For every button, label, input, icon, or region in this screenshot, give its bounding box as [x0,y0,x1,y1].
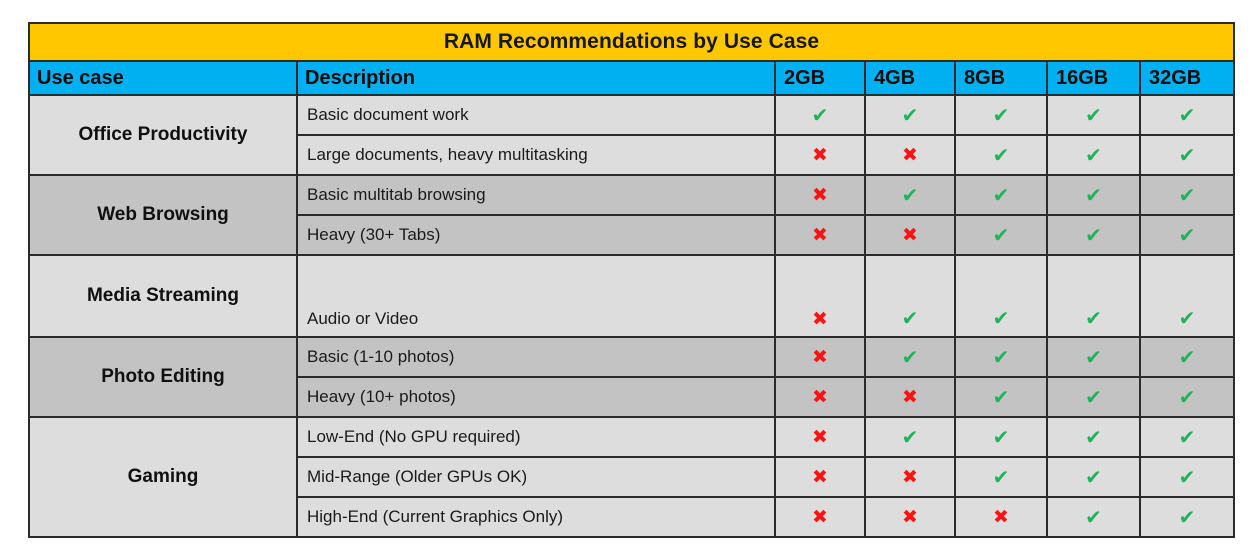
check-icon: ✔ [902,345,919,369]
cross-icon: ✖ [812,386,828,408]
cross-icon: ✖ [812,466,828,488]
check-icon: ✔ [1179,143,1196,167]
check-icon: ✔ [993,385,1010,409]
cross-icon: ✖ [812,506,828,528]
support-cell-32gb: ✔ [1140,417,1234,457]
description-cell: Basic multitab browsing [297,175,775,215]
support-cell-16gb: ✔ [1047,95,1140,135]
support-cell-16gb: ✔ [1047,497,1140,537]
table-row: Office ProductivityBasic document work✔✔… [29,95,1234,135]
table-row: GamingLow-End (No GPU required)✖✔✔✔✔ [29,417,1234,457]
description-cell: Mid-Range (Older GPUs OK) [297,457,775,497]
support-cell-2gb: ✖ [775,497,865,537]
column-header-description: Description [297,61,775,95]
document-title: RAM Recommendations by Use Case [29,23,1234,61]
check-icon: ✔ [1179,465,1196,489]
use-case-label: Office Productivity [29,95,297,175]
check-icon: ✔ [1179,425,1196,449]
support-cell-2gb: ✖ [775,457,865,497]
check-icon: ✔ [1085,465,1102,489]
check-icon: ✔ [902,183,919,207]
support-cell-4gb: ✖ [865,135,955,175]
check-icon: ✔ [902,103,919,127]
check-icon: ✔ [902,425,919,449]
table-row: Web BrowsingBasic multitab browsing✖✔✔✔✔ [29,175,1234,215]
check-icon: ✔ [1179,505,1196,529]
check-icon: ✔ [1085,306,1102,330]
support-cell-16gb: ✔ [1047,337,1140,377]
support-cell-32gb: ✔ [1140,95,1234,135]
check-icon: ✔ [812,103,829,127]
check-icon: ✔ [1179,103,1196,127]
column-header-size-16gb: 16GB [1047,61,1140,95]
support-cell-8gb: ✔ [955,457,1047,497]
description-cell: Basic document work [297,95,775,135]
support-cell-32gb: ✔ [1140,497,1234,537]
check-icon: ✔ [1085,385,1102,409]
support-cell-16gb: ✔ [1047,135,1140,175]
support-cell-4gb: ✔ [865,337,955,377]
check-icon: ✔ [1085,143,1102,167]
support-cell-8gb: ✔ [955,215,1047,255]
check-icon: ✔ [1085,505,1102,529]
check-icon: ✔ [1085,425,1102,449]
cross-icon: ✖ [812,184,828,206]
column-header-size-2gb: 2GB [775,61,865,95]
use-case-label: Media Streaming [29,255,297,337]
check-icon: ✔ [993,143,1010,167]
support-cell-8gb: ✔ [955,337,1047,377]
check-icon: ✔ [993,425,1010,449]
check-icon: ✔ [1085,345,1102,369]
check-icon: ✔ [902,306,919,330]
check-icon: ✔ [993,465,1010,489]
cross-icon: ✖ [902,224,918,246]
support-cell-32gb: ✔ [1140,255,1234,337]
support-cell-2gb: ✖ [775,377,865,417]
cross-icon: ✖ [812,308,828,330]
cross-icon: ✖ [812,224,828,246]
support-cell-4gb: ✖ [865,457,955,497]
support-cell-8gb: ✔ [955,95,1047,135]
cross-icon: ✖ [902,506,918,528]
column-header-use-case: Use case [29,61,297,95]
cross-icon: ✖ [902,466,918,488]
support-cell-2gb: ✖ [775,337,865,377]
description-cell: Large documents, heavy multitasking [297,135,775,175]
support-cell-16gb: ✔ [1047,417,1140,457]
cross-icon: ✖ [812,426,828,448]
use-case-label: Photo Editing [29,337,297,417]
support-cell-8gb: ✔ [955,175,1047,215]
support-cell-4gb: ✔ [865,175,955,215]
support-cell-32gb: ✔ [1140,135,1234,175]
support-cell-16gb: ✔ [1047,215,1140,255]
description-cell: Heavy (30+ Tabs) [297,215,775,255]
check-icon: ✔ [1085,103,1102,127]
support-cell-16gb: ✔ [1047,175,1140,215]
check-icon: ✔ [993,345,1010,369]
support-cell-4gb: ✖ [865,215,955,255]
support-cell-8gb: ✖ [955,497,1047,537]
support-cell-16gb: ✔ [1047,457,1140,497]
cross-icon: ✖ [902,386,918,408]
check-icon: ✔ [993,183,1010,207]
ram-recommendations-table: RAM Recommendations by Use CaseUse caseD… [28,22,1235,538]
support-cell-2gb: ✖ [775,215,865,255]
check-icon: ✔ [1085,223,1102,247]
support-cell-4gb: ✔ [865,255,955,337]
support-cell-8gb: ✔ [955,377,1047,417]
column-header-size-32gb: 32GB [1140,61,1234,95]
cross-icon: ✖ [902,144,918,166]
support-cell-2gb: ✖ [775,175,865,215]
cross-icon: ✖ [812,346,828,368]
support-cell-8gb: ✔ [955,135,1047,175]
check-icon: ✔ [1179,306,1196,330]
support-cell-32gb: ✔ [1140,175,1234,215]
support-cell-32gb: ✔ [1140,337,1234,377]
table-row: Media StreamingAudio or Video✖✔✔✔✔ [29,255,1234,337]
check-icon: ✔ [993,306,1010,330]
check-icon: ✔ [1179,385,1196,409]
support-cell-32gb: ✔ [1140,457,1234,497]
support-cell-4gb: ✔ [865,95,955,135]
support-cell-2gb: ✖ [775,135,865,175]
support-cell-8gb: ✔ [955,417,1047,457]
support-cell-32gb: ✔ [1140,377,1234,417]
support-cell-8gb: ✔ [955,255,1047,337]
support-cell-2gb: ✔ [775,95,865,135]
check-icon: ✔ [1179,223,1196,247]
check-icon: ✔ [1179,345,1196,369]
support-cell-4gb: ✖ [865,377,955,417]
description-cell: High-End (Current Graphics Only) [297,497,775,537]
support-cell-2gb: ✖ [775,417,865,457]
cross-icon: ✖ [993,506,1009,528]
column-header-size-4gb: 4GB [865,61,955,95]
support-cell-4gb: ✔ [865,417,955,457]
ram-recommendations-table-container: RAM Recommendations by Use CaseUse caseD… [28,22,1233,538]
column-header-size-8gb: 8GB [955,61,1047,95]
use-case-label: Gaming [29,417,297,537]
check-icon: ✔ [1179,183,1196,207]
description-cell: Audio or Video [297,255,775,337]
use-case-label: Web Browsing [29,175,297,255]
support-cell-16gb: ✔ [1047,377,1140,417]
check-icon: ✔ [993,103,1010,127]
check-icon: ✔ [993,223,1010,247]
description-cell: Heavy (10+ photos) [297,377,775,417]
title-row: RAM Recommendations by Use Case [29,23,1234,61]
support-cell-32gb: ✔ [1140,215,1234,255]
check-icon: ✔ [1085,183,1102,207]
table-body: RAM Recommendations by Use CaseUse caseD… [29,23,1234,537]
support-cell-2gb: ✖ [775,255,865,337]
description-cell: Low-End (No GPU required) [297,417,775,457]
support-cell-4gb: ✖ [865,497,955,537]
table-row: Photo EditingBasic (1-10 photos)✖✔✔✔✔ [29,337,1234,377]
support-cell-16gb: ✔ [1047,255,1140,337]
header-row: Use caseDescription2GB4GB8GB16GB32GB [29,61,1234,95]
description-cell: Basic (1-10 photos) [297,337,775,377]
cross-icon: ✖ [812,144,828,166]
